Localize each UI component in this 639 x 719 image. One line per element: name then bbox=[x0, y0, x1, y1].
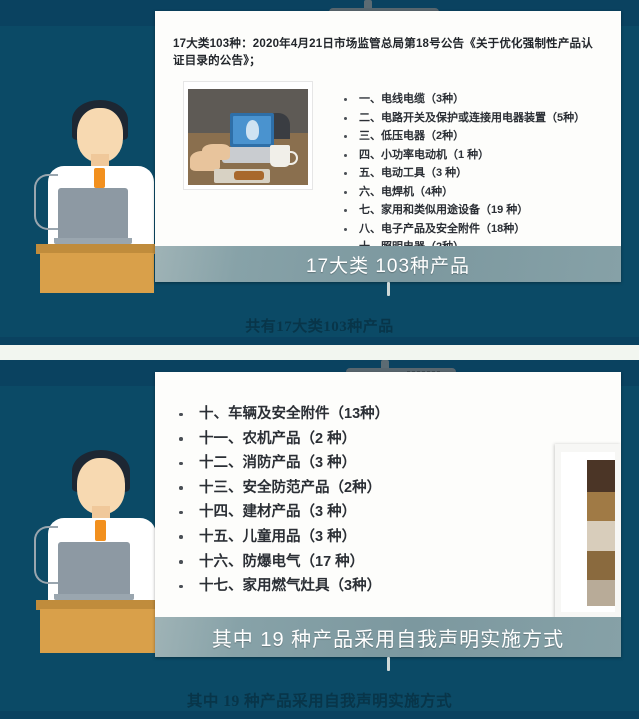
microphone-stand-icon bbox=[34, 526, 58, 584]
projection-screen-2: 十、车辆及安全附件（13种） 十一、农机产品（2 种） 十二、消防产品（3 种）… bbox=[155, 372, 621, 657]
list-item: 七、家用和类似用途设备（19 种） bbox=[342, 201, 585, 220]
panel-bottom-vignette-2 bbox=[0, 711, 639, 719]
slide-header-text-1: 17大类103种：2020年4月21日市场监管总局第18号公告《关于优化强制性产… bbox=[173, 36, 593, 70]
slide-bullet-list-2: 十、车辆及安全附件（13种） 十一、农机产品（2 种） 十二、消防产品（3 种）… bbox=[177, 402, 389, 599]
screenshot-stage: 17大类103种：2020年4月21日市场监管总局第18号公告《关于优化强制性产… bbox=[0, 0, 639, 719]
list-item: 二、电路开关及保护或连接用电器装置（5种） bbox=[342, 109, 585, 128]
list-item: 十五、儿童用品（3 种） bbox=[177, 525, 389, 550]
list-item: 十三、安全防范产品（2种） bbox=[177, 476, 389, 501]
photo-band-5 bbox=[587, 580, 615, 606]
panel-bottom-vignette bbox=[0, 337, 639, 345]
photo-band-1 bbox=[587, 460, 615, 492]
banner-connector-nub-1 bbox=[387, 282, 390, 296]
slide-panel-1: 17大类103种：2020年4月21日市场监管总局第18号公告《关于优化强制性产… bbox=[0, 0, 639, 345]
list-item: 八、电子产品及安全附件（18种） bbox=[342, 220, 585, 239]
presenter-laptop-screen bbox=[58, 188, 128, 240]
photo-food bbox=[234, 171, 264, 180]
list-item: 十四、建材产品（3 种） bbox=[177, 500, 389, 525]
photo-band-4 bbox=[587, 551, 615, 580]
list-item: 十二、消防产品（3 种） bbox=[177, 451, 389, 476]
list-item: 四、小功率电动机（1 种） bbox=[342, 146, 585, 165]
podium bbox=[40, 253, 154, 293]
list-item: 一、电线电缆（3种） bbox=[342, 90, 585, 109]
presenter-tie bbox=[94, 168, 105, 188]
list-item: 十、车辆及安全附件（13种） bbox=[177, 402, 389, 427]
podium bbox=[40, 609, 156, 653]
photo-hand-right bbox=[190, 151, 220, 171]
projection-screen-inner-1: 17大类103种：2020年4月21日市场监管总局第18号公告《关于优化强制性产… bbox=[155, 11, 621, 282]
projection-screen-1: 17大类103种：2020年4月21日市场监管总局第18号公告《关于优化强制性产… bbox=[155, 11, 621, 282]
list-item: 五、电动工具（3 种） bbox=[342, 164, 585, 183]
slide-banner-1: 17大类 103种产品 bbox=[155, 246, 621, 282]
list-item: 十六、防爆电气（17 种） bbox=[177, 550, 389, 575]
microphone-stand-icon bbox=[34, 174, 58, 230]
photo-wallpaper-fox bbox=[246, 120, 259, 140]
banner-connector-nub-2 bbox=[387, 657, 390, 671]
presenter-tie bbox=[95, 520, 106, 541]
slide-bullet-list-1: 一、电线电缆（3种） 二、电路开关及保护或连接用电器装置（5种） 三、低压电器（… bbox=[342, 90, 585, 257]
slide-caption-2: 其中 19 种产品采用自我声明实施方式 bbox=[0, 689, 639, 711]
panel-separator bbox=[0, 345, 639, 360]
slide-panel-2: 十、车辆及安全附件（13种） 十一、农机产品（2 种） 十二、消防产品（3 种）… bbox=[0, 360, 639, 719]
photo-band-2 bbox=[587, 492, 615, 521]
photo-band-3 bbox=[587, 521, 615, 550]
slide-banner-2: 其中 19 种产品采用自我声明实施方式 bbox=[155, 617, 621, 657]
list-item: 十一、农机产品（2 种） bbox=[177, 427, 389, 452]
laptop-desk-photo bbox=[188, 89, 308, 185]
projection-screen-inner-2: 十、车辆及安全附件（13种） 十一、农机产品（2 种） 十二、消防产品（3 种）… bbox=[155, 372, 621, 657]
list-item: 三、低压电器（2种） bbox=[342, 127, 585, 146]
list-item: 六、电焊机（4种） bbox=[342, 183, 585, 202]
slide-caption-1: 共有17大类103种产品 bbox=[0, 315, 639, 336]
presenter-laptop-screen bbox=[58, 542, 130, 596]
photo-coffee-mug bbox=[270, 145, 290, 167]
framed-wall-photo bbox=[587, 460, 615, 606]
list-item: 十七、家用燃气灶具（3种） bbox=[177, 574, 389, 599]
